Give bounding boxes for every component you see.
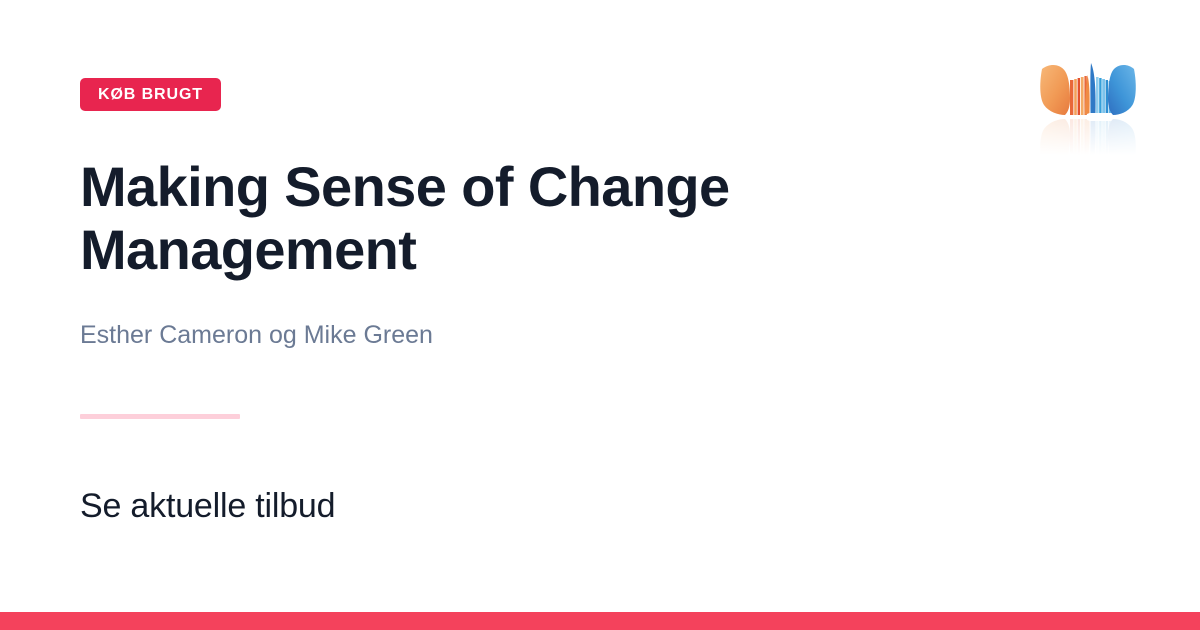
cta-link[interactable]: Se aktuelle tilbud xyxy=(80,486,335,527)
status-badge[interactable]: KØB BRUGT xyxy=(80,78,221,111)
book-authors: Esther Cameron og Mike Green xyxy=(80,320,980,350)
saxo-butterfly-book-logo-icon xyxy=(1036,55,1140,155)
status-badge-label: KØB BRUGT xyxy=(98,87,203,103)
bottom-accent-bar xyxy=(0,612,1200,630)
section-divider xyxy=(80,414,240,419)
page-title: Making Sense of Change Management xyxy=(80,155,980,282)
promo-card: KØB BRUGT xyxy=(0,0,1200,630)
